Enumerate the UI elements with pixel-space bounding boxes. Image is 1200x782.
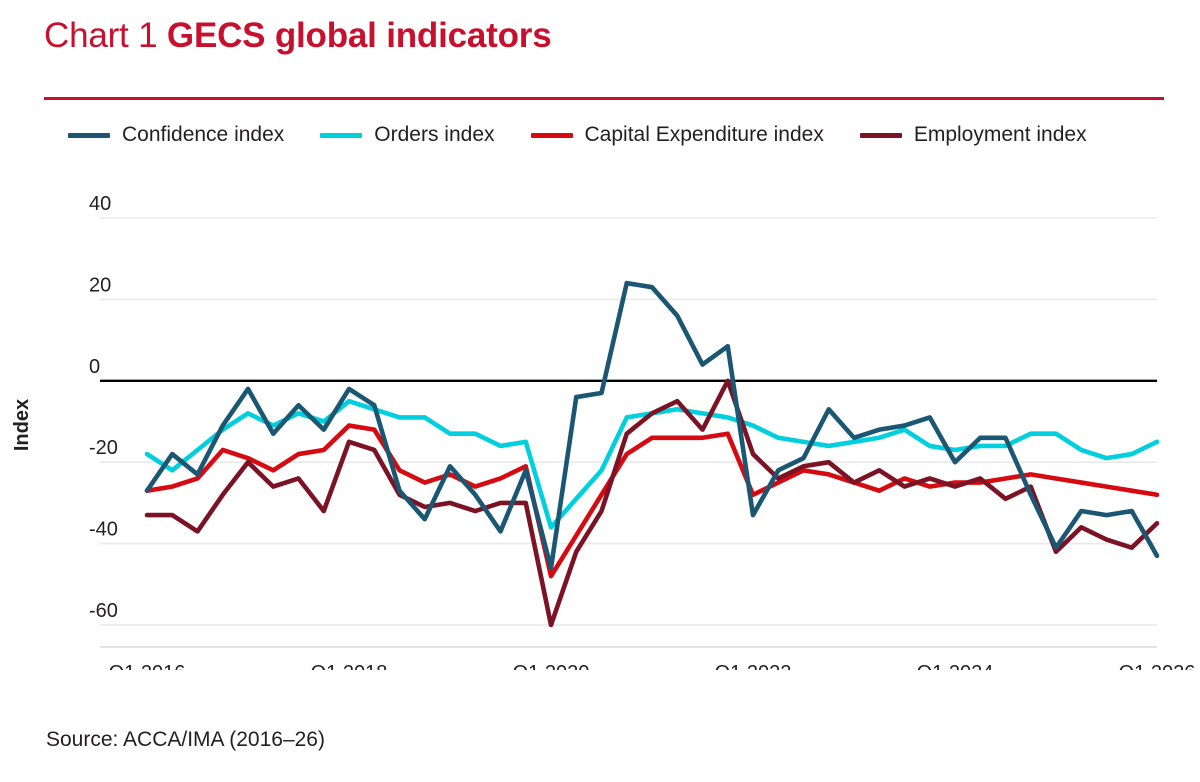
x-tick-label: Q1 2026 <box>1119 662 1196 670</box>
legend-swatch-employment <box>860 133 902 138</box>
source-note: Source: ACCA/IMA (2016–26) <box>46 728 325 752</box>
legend-label-employment: Employment index <box>914 124 1087 146</box>
series-line-confidence <box>147 283 1157 568</box>
chart-number-label: Chart 1 <box>44 16 157 55</box>
y-tick-label: 0 <box>89 356 100 378</box>
legend-item-orders[interactable]: Orders index <box>320 124 494 146</box>
legend-label-capex: Capital Expenditure index <box>585 124 824 146</box>
legend-swatch-orders <box>320 133 362 138</box>
chart-page: Chart 1 GECS global indicators Confidenc… <box>0 0 1200 782</box>
series-line-employment <box>147 381 1157 625</box>
y-tick-label: -60 <box>89 600 118 622</box>
legend-swatch-confidence <box>68 133 110 138</box>
x-tick-label: Q1 2018 <box>311 662 388 670</box>
series-line-orders <box>147 401 1157 527</box>
y-tick-label: -20 <box>89 437 118 459</box>
page-title: Chart 1 GECS global indicators <box>44 14 1164 58</box>
plot-area: 40200-20-40-60IndexQ1 2016Q1 2018Q1 2020… <box>0 170 1200 670</box>
x-tick-label: Q1 2024 <box>917 662 994 670</box>
legend-swatch-capex <box>531 133 573 138</box>
x-tick-label: Q1 2020 <box>513 662 590 670</box>
x-tick-label: Q1 2016 <box>109 662 186 670</box>
title-divider <box>44 97 1164 100</box>
y-tick-label: -40 <box>89 519 118 541</box>
legend-item-confidence[interactable]: Confidence index <box>68 124 284 146</box>
chart-title-text: GECS global indicators <box>167 16 552 55</box>
legend-label-confidence: Confidence index <box>122 124 284 146</box>
line-chart: 40200-20-40-60IndexQ1 2016Q1 2018Q1 2020… <box>0 170 1200 670</box>
y-axis-title: Index <box>11 399 33 451</box>
legend-label-orders: Orders index <box>374 124 494 146</box>
y-tick-label: 20 <box>89 274 111 296</box>
x-tick-label: Q1 2022 <box>715 662 792 670</box>
chart-legend: Confidence index Orders index Capital Ex… <box>68 124 1123 146</box>
legend-item-capex[interactable]: Capital Expenditure index <box>531 124 824 146</box>
legend-item-employment[interactable]: Employment index <box>860 124 1087 146</box>
y-tick-label: 40 <box>89 193 111 215</box>
